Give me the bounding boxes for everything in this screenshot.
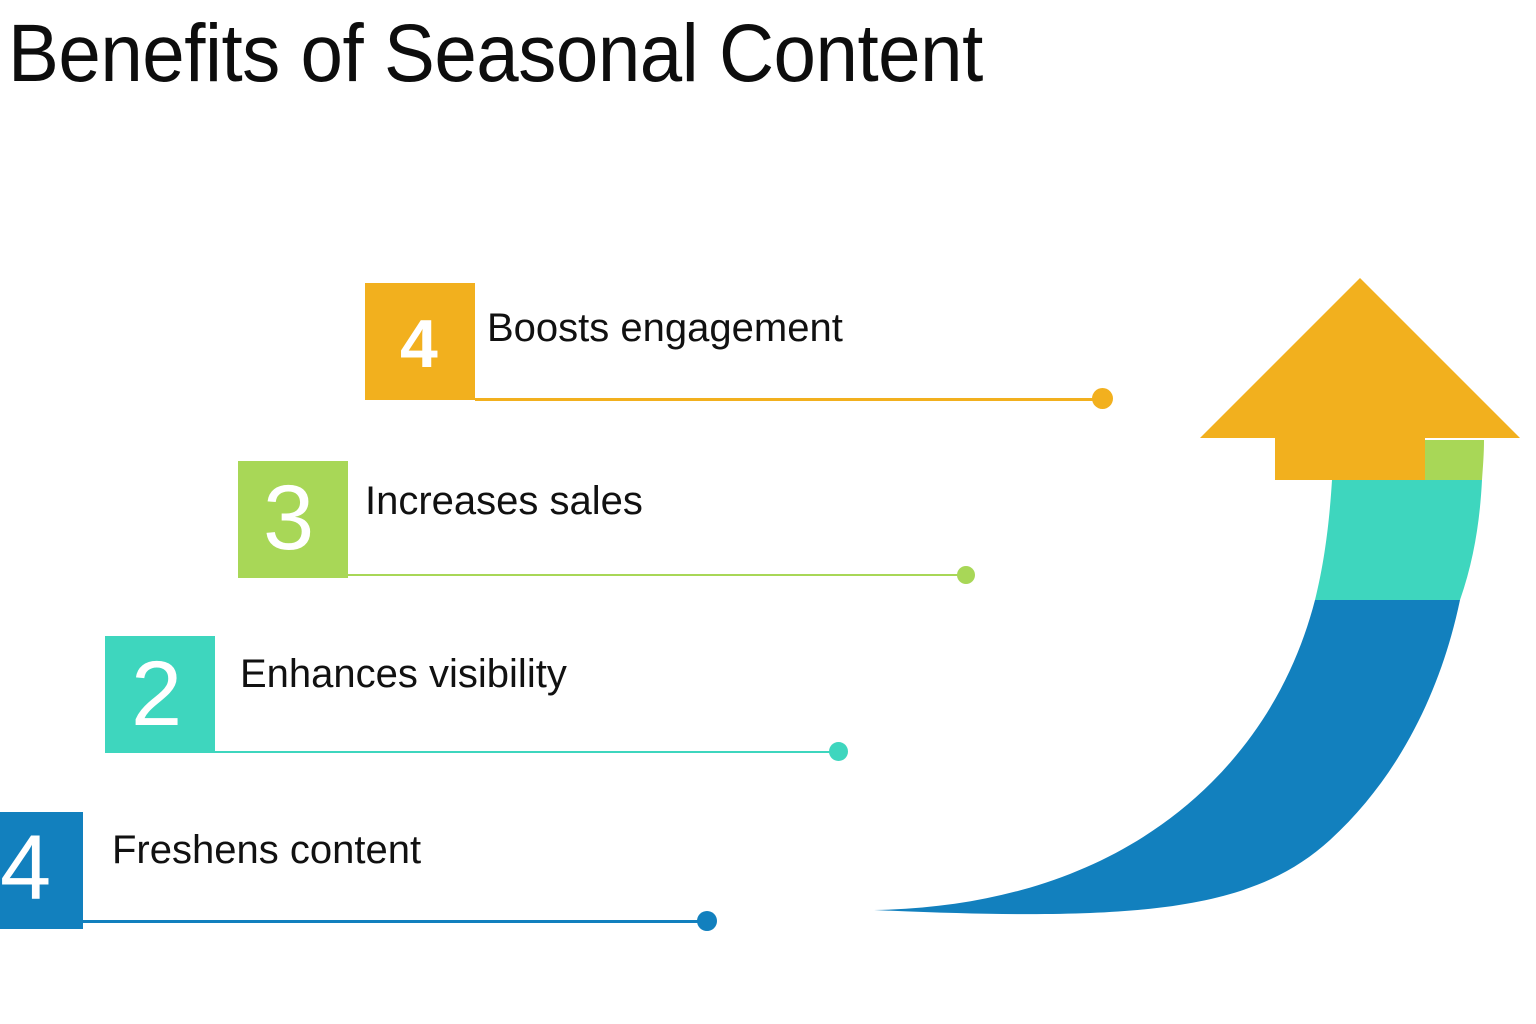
arrow-band-teal (1315, 480, 1482, 600)
slide-canvas: Benefits of Seasonal Content 4 Boosts en… (0, 0, 1536, 1024)
benefit-label-freshens-content: Freshens content (112, 826, 421, 874)
benefit-label-boosts-engagement: Boosts engagement (487, 304, 843, 352)
benefit-label-increases-sales: Increases sales (365, 477, 643, 525)
connector-dot-gold (1092, 388, 1113, 409)
number-label-gold: 4 (400, 310, 438, 378)
page-title: Benefits of Seasonal Content (8, 6, 1217, 102)
connector-line-gold (475, 398, 1102, 401)
connector-line-teal (215, 751, 840, 753)
connector-line-green (348, 574, 968, 576)
connector-dot-blue (697, 911, 717, 931)
number-label-green: 3 (263, 472, 314, 564)
connector-dot-teal (829, 742, 848, 761)
connector-dot-green (957, 566, 975, 584)
number-label-teal: 2 (131, 648, 182, 740)
benefit-label-enhances-visibility: Enhances visibility (240, 650, 567, 698)
connector-line-blue (83, 920, 707, 923)
number-label-blue: 4 (0, 822, 51, 914)
arrow-band-blue (874, 600, 1460, 914)
growth-arrow-graphic (860, 262, 1520, 922)
